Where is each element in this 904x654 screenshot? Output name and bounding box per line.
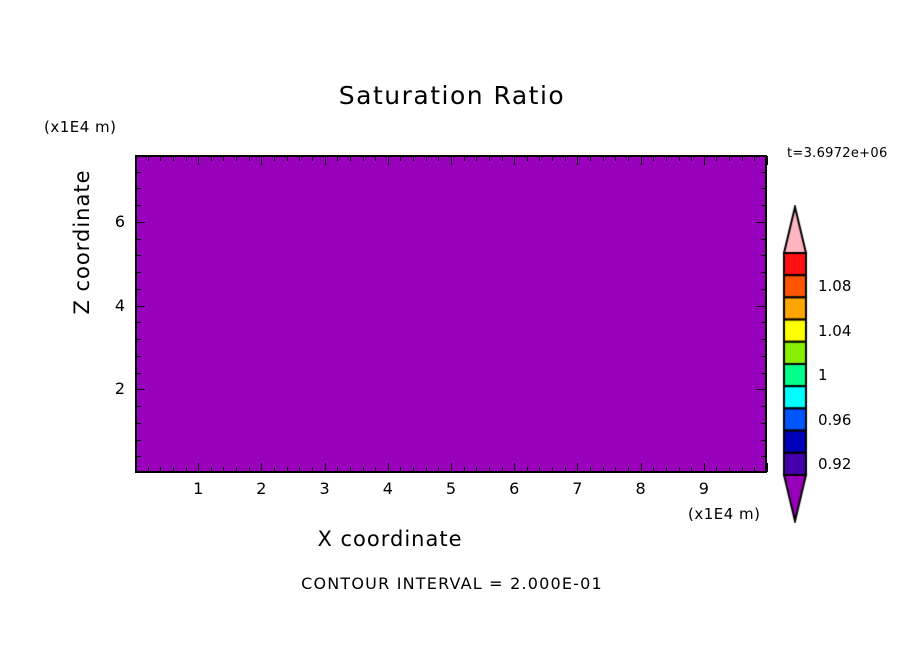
contour-field: [137, 157, 765, 471]
tick-x-bottom: [691, 467, 692, 472]
y-tick-label: 2: [103, 379, 125, 398]
tick-y-right: [757, 222, 766, 223]
colorbar-tick-label: 1.04: [818, 322, 851, 340]
tick-x-bottom: [223, 467, 224, 472]
tick-x-top: [476, 156, 477, 161]
tick-y-right: [761, 456, 766, 457]
tick-y-right: [761, 423, 766, 424]
tick-x-top: [211, 156, 212, 161]
tick-x-bottom: [451, 463, 452, 472]
tick-x-top: [236, 156, 237, 161]
tick-x-bottom: [527, 467, 528, 472]
tick-x-bottom: [438, 467, 439, 472]
tick-x-top: [400, 156, 401, 161]
tick-x-bottom: [388, 463, 389, 472]
tick-y-left: [136, 205, 141, 206]
tick-y-left: [136, 322, 141, 323]
tick-x-bottom: [653, 467, 654, 472]
tick-y-left: [136, 239, 141, 240]
x-tick-label: 6: [502, 479, 526, 498]
x-tick-label: 5: [439, 479, 463, 498]
tick-x-top: [502, 156, 503, 161]
tick-x-bottom: [325, 463, 326, 472]
tick-x-bottom: [679, 467, 680, 472]
x-axis-unit-label: (x1E4 m): [688, 505, 761, 523]
x-tick-label: 7: [565, 479, 589, 498]
x-tick-label: 2: [249, 479, 273, 498]
tick-x-top: [577, 156, 578, 165]
tick-y-left: [136, 222, 145, 223]
tick-x-bottom: [211, 467, 212, 472]
tick-x-top: [261, 156, 262, 165]
tick-x-bottom: [413, 467, 414, 472]
tick-x-bottom: [476, 467, 477, 472]
tick-x-bottom: [577, 463, 578, 472]
tick-x-top: [628, 156, 629, 161]
tick-x-top: [539, 156, 540, 161]
tick-y-left: [136, 423, 141, 424]
tick-x-top: [527, 156, 528, 161]
tick-x-bottom: [363, 467, 364, 472]
tick-x-bottom: [299, 467, 300, 472]
tick-x-bottom: [287, 467, 288, 472]
tick-y-right: [761, 406, 766, 407]
tick-x-bottom: [565, 467, 566, 472]
tick-x-bottom: [274, 467, 275, 472]
tick-y-right: [761, 205, 766, 206]
colorbar-tick-label: 1.08: [818, 277, 851, 295]
tick-y-right: [761, 339, 766, 340]
tick-y-right: [761, 255, 766, 256]
tick-x-top: [274, 156, 275, 161]
tick-x-top: [312, 156, 313, 161]
tick-x-top: [375, 156, 376, 161]
tick-x-bottom: [716, 467, 717, 472]
y-axis-title: Z coordinate: [70, 142, 94, 342]
tick-x-bottom: [603, 467, 604, 472]
y-tick-label: 6: [103, 212, 125, 231]
page-title: Saturation Ratio: [0, 81, 904, 110]
tick-x-top: [615, 156, 616, 161]
tick-x-bottom: [590, 467, 591, 472]
tick-y-right: [761, 172, 766, 173]
tick-x-bottom: [552, 467, 553, 472]
tick-x-top: [767, 156, 768, 165]
tick-y-right: [761, 289, 766, 290]
tick-x-top: [148, 156, 149, 161]
tick-x-top: [691, 156, 692, 161]
tick-x-top: [388, 156, 389, 165]
tick-x-top: [325, 156, 326, 165]
tick-x-bottom: [628, 467, 629, 472]
tick-x-top: [565, 156, 566, 161]
tick-x-top: [704, 156, 705, 165]
tick-x-bottom: [400, 467, 401, 472]
tick-x-bottom: [350, 467, 351, 472]
tick-x-top: [641, 156, 642, 165]
tick-y-right: [761, 322, 766, 323]
tick-y-left: [136, 389, 145, 390]
tick-y-left: [136, 255, 141, 256]
contour-plot-area: [135, 155, 767, 473]
tick-x-top: [742, 156, 743, 161]
tick-x-top: [489, 156, 490, 161]
tick-y-right: [757, 306, 766, 307]
colorbar-gradient: [778, 205, 812, 523]
tick-y-right: [757, 389, 766, 390]
tick-x-top: [653, 156, 654, 161]
tick-x-top: [249, 156, 250, 161]
figure-canvas: Saturation Ratio (x1E4 m) t=3.6972e+06 1…: [0, 0, 904, 654]
tick-x-bottom: [312, 467, 313, 472]
tick-y-left: [136, 289, 141, 290]
tick-x-top: [603, 156, 604, 161]
tick-x-top: [552, 156, 553, 161]
tick-x-bottom: [337, 467, 338, 472]
tick-y-left: [136, 456, 141, 457]
tick-x-top: [350, 156, 351, 161]
tick-x-bottom: [261, 463, 262, 472]
tick-y-left: [136, 406, 141, 407]
tick-x-bottom: [615, 467, 616, 472]
tick-x-top: [464, 156, 465, 161]
tick-x-bottom: [754, 467, 755, 472]
tick-x-bottom: [502, 467, 503, 472]
x-axis-title: X coordinate: [0, 527, 780, 551]
tick-x-top: [716, 156, 717, 161]
tick-x-bottom: [198, 463, 199, 472]
tick-y-right: [761, 188, 766, 189]
tick-y-left: [136, 188, 141, 189]
tick-y-right: [761, 356, 766, 357]
tick-x-top: [590, 156, 591, 161]
tick-x-top: [223, 156, 224, 161]
tick-x-top: [438, 156, 439, 161]
tick-x-top: [666, 156, 667, 161]
tick-x-bottom: [704, 463, 705, 472]
x-tick-label: 3: [313, 479, 337, 498]
tick-x-bottom: [249, 467, 250, 472]
tick-x-bottom: [489, 467, 490, 472]
tick-x-bottom: [236, 467, 237, 472]
tick-y-left: [136, 356, 141, 357]
tick-x-bottom: [767, 463, 768, 472]
tick-y-right: [761, 272, 766, 273]
tick-x-bottom: [426, 467, 427, 472]
tick-y-right: [761, 373, 766, 374]
tick-x-top: [754, 156, 755, 161]
x-tick-label: 1: [186, 479, 210, 498]
tick-x-top: [413, 156, 414, 161]
tick-x-top: [198, 156, 199, 165]
x-tick-label: 4: [376, 479, 400, 498]
tick-y-left: [136, 172, 141, 173]
tick-x-bottom: [641, 463, 642, 472]
tick-x-bottom: [186, 467, 187, 472]
x-tick-label: 9: [692, 479, 716, 498]
colorbar-tick-label: 0.96: [818, 411, 851, 429]
tick-y-right: [761, 440, 766, 441]
tick-x-bottom: [742, 467, 743, 472]
tick-y-right: [761, 239, 766, 240]
tick-x-bottom: [160, 467, 161, 472]
tick-x-top: [426, 156, 427, 161]
tick-x-bottom: [464, 467, 465, 472]
y-tick-label: 4: [103, 296, 125, 315]
tick-x-bottom: [666, 467, 667, 472]
tick-x-top: [514, 156, 515, 165]
tick-x-top: [729, 156, 730, 161]
tick-y-left: [136, 272, 141, 273]
tick-y-left: [136, 306, 145, 307]
tick-y-left: [136, 440, 141, 441]
tick-x-top: [337, 156, 338, 161]
tick-x-top: [679, 156, 680, 161]
tick-y-left: [136, 339, 141, 340]
tick-x-top: [186, 156, 187, 161]
y-axis-unit-label: (x1E4 m): [44, 118, 117, 136]
colorbar: [778, 205, 812, 523]
tick-x-top: [287, 156, 288, 161]
tick-x-bottom: [729, 467, 730, 472]
colorbar-tick-label: 1: [818, 366, 828, 384]
tick-y-left: [136, 373, 141, 374]
tick-x-top: [160, 156, 161, 161]
tick-x-bottom: [148, 467, 149, 472]
tick-x-top: [173, 156, 174, 161]
tick-x-bottom: [375, 467, 376, 472]
tick-x-top: [299, 156, 300, 161]
tick-x-bottom: [514, 463, 515, 472]
colorbar-tick-label: 0.92: [818, 455, 851, 473]
tick-x-bottom: [539, 467, 540, 472]
x-tick-label: 8: [629, 479, 653, 498]
tick-x-top: [451, 156, 452, 165]
tick-x-top: [363, 156, 364, 161]
time-annotation: t=3.6972e+06: [787, 146, 888, 161]
tick-x-bottom: [173, 467, 174, 472]
contour-interval-note: CONTOUR INTERVAL = 2.000E-01: [0, 574, 904, 593]
